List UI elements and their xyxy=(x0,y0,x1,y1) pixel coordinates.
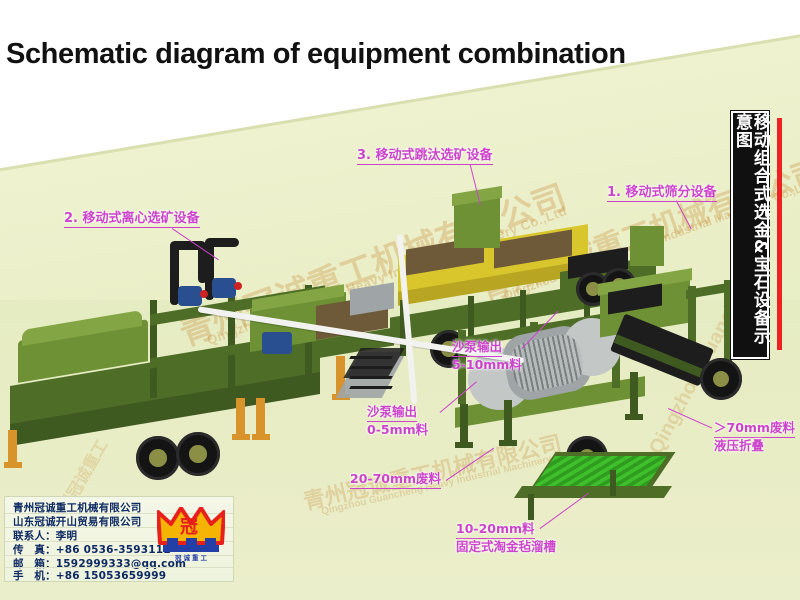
annotation-item-1: 1. 移动式筛分设备 xyxy=(607,181,717,202)
trommel-jack-1 xyxy=(460,404,468,444)
centrifugal-wheel-1 xyxy=(136,436,180,480)
centrifugal-jack-3-foot xyxy=(252,434,270,440)
annotation-item-2: 2. 移动式离心选矿设备 xyxy=(64,207,200,228)
logo-base-bar xyxy=(163,545,219,552)
trommel-jack-1-foot xyxy=(455,442,473,448)
contact-mobile: 手 机：+86 15053659999 xyxy=(13,568,166,583)
centrifugal-jack-2-foot xyxy=(232,434,250,440)
centrifugal-motor xyxy=(262,332,292,354)
trommel-jack-2 xyxy=(504,400,512,442)
annotation-waste-20-70: 20-70mm废料 xyxy=(350,471,441,489)
centrifugal-valve-2 xyxy=(234,282,242,290)
sluice-carpet xyxy=(533,456,667,488)
centrifugal-wheel-2 xyxy=(176,432,220,476)
vertical-banner-text: 移动组合式选金&宝石设备示意图 xyxy=(732,113,768,357)
jig-engine-block xyxy=(630,226,664,266)
annotation-pump-0-5: 沙泵输出 0-5mm料 xyxy=(367,404,428,437)
logo-caption: 冠诚重工 xyxy=(161,552,223,562)
company-logo: 冠 冠诚重工 xyxy=(155,505,227,563)
sluice-support-beam xyxy=(514,486,672,498)
sluice-leg-2 xyxy=(610,470,616,496)
annotation-item-3: 3. 移动式跳汰选矿设备 xyxy=(357,144,493,165)
vertical-banner: 移动组合式选金&宝石设备示意图 xyxy=(731,111,769,359)
centrifugal-pipe-2-elbow xyxy=(205,238,239,247)
annotation-waste-70: ＞70mm废料 液压折叠 xyxy=(714,420,795,453)
centrifugal-bowl-2 xyxy=(212,278,236,298)
banner-accent-line xyxy=(777,118,782,350)
centrifugal-valve-1 xyxy=(200,290,208,298)
sluice-leg-1 xyxy=(528,494,534,520)
centrifugal-jack-2 xyxy=(236,398,245,436)
annotation-pump-5-10: 沙泵输出 5-10mm料 xyxy=(452,339,522,372)
stair-tread-4 xyxy=(349,386,393,389)
trommel-wheel-2 xyxy=(700,358,742,400)
logo-glyph: 冠 xyxy=(155,513,223,539)
screenshot-root: 青州冠诚重工机械有限公司 Qingzhou Guancheng Heavy In… xyxy=(0,0,800,600)
centrifugal-jack-1-foot xyxy=(4,462,22,468)
trommel-jack-2-foot xyxy=(499,440,517,446)
centrifugal-jack-3 xyxy=(256,398,265,436)
centrifugal-jack-1 xyxy=(8,430,17,464)
trommel-jack-3-foot xyxy=(625,414,643,420)
trommel-jack-3 xyxy=(630,372,638,416)
centrifugal-bowl-1 xyxy=(178,286,202,306)
page-title: Schematic diagram of equipment combinati… xyxy=(6,38,626,71)
